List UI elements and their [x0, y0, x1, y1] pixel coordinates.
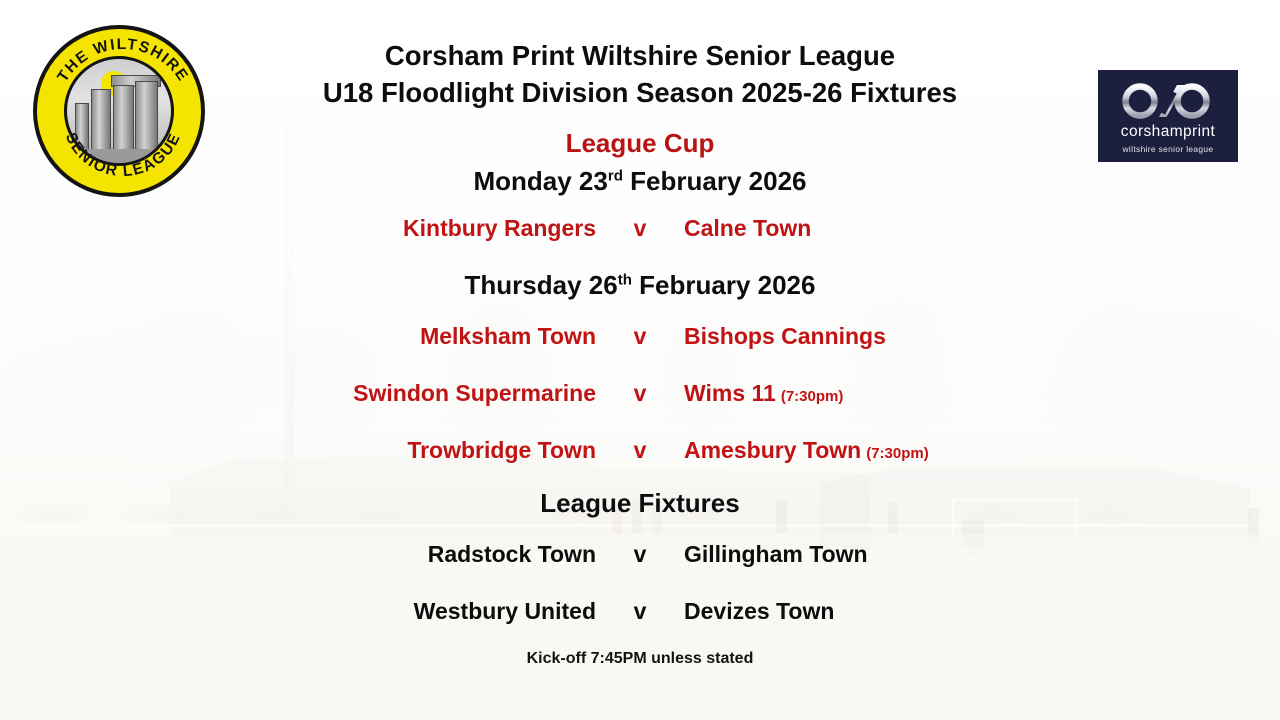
- section-monday-23-february: Monday 23rd February 2026 Kintbury Range…: [230, 166, 1050, 242]
- title-line-2: U18 Floodlight Division Season 2025-26 F…: [230, 75, 1050, 112]
- away-team-label: Gillingham Town: [670, 541, 1050, 568]
- competition-title: League Cup: [230, 128, 1050, 159]
- away-team-label: Wims 11(7:30pm): [670, 380, 1050, 407]
- versus-label: v: [610, 598, 670, 625]
- kickoff-time-label: (7:30pm): [866, 445, 929, 462]
- poster-content: THE WILTSHIRE SENIOR LEAGUE: [0, 0, 1280, 720]
- date-heading-ordinal: 6: [603, 270, 617, 300]
- home-team-label: Radstock Town: [230, 541, 610, 568]
- title-line-1: Corsham Print Wiltshire Senior League: [230, 38, 1050, 75]
- stone-icon: [113, 85, 134, 151]
- away-team-name: Calne Town: [684, 215, 811, 241]
- page-title: Corsham Print Wiltshire Senior League U1…: [230, 38, 1050, 112]
- fixtures-poster: THE WILTSHIRE SENIOR LEAGUE: [0, 0, 1280, 720]
- stone-icon: [135, 81, 158, 151]
- versus-label: v: [610, 215, 670, 242]
- corsham-print-logo: corshamprint wiltshire senior league: [1098, 70, 1238, 162]
- away-team-name: Wims 11: [684, 380, 776, 406]
- away-team-label: Bishops Cannings: [670, 323, 1050, 350]
- fixture-row: Swindon Supermarine v Wims 11(7:30pm): [230, 380, 1050, 407]
- home-team-label: Swindon Supermarine: [230, 380, 610, 407]
- date-heading: Monday 23rd February 2026: [230, 166, 1050, 197]
- fixture-row: Trowbridge Town v Amesbury Town(7:30pm): [230, 437, 1050, 464]
- away-team-name: Amesbury Town: [684, 437, 861, 463]
- corshamprint-mark-icon: [1113, 82, 1223, 120]
- stone-icon: [75, 103, 89, 151]
- wiltshire-senior-league-logo: THE WILTSHIRE SENIOR LEAGUE: [33, 25, 205, 197]
- kickoff-time-label: (7:30pm): [781, 388, 844, 405]
- versus-label: v: [610, 437, 670, 464]
- date-heading-day: Monday 2: [473, 166, 593, 196]
- fixture-row: Radstock Town v Gillingham Town: [230, 541, 1050, 568]
- home-team-label: Melksham Town: [230, 323, 610, 350]
- sponsor-tagline-label: wiltshire senior league: [1123, 144, 1214, 154]
- ground-line: [67, 149, 171, 163]
- date-heading-suffix: rd: [608, 167, 623, 184]
- section-thursday-26-february: Thursday 26th February 2026 Melksham Tow…: [230, 270, 1050, 464]
- away-team-name: Bishops Cannings: [684, 323, 886, 349]
- date-heading-ordinal: 3: [593, 166, 607, 196]
- fixture-row: Westbury United v Devizes Town: [230, 598, 1050, 625]
- away-team-name: Devizes Town: [684, 598, 834, 624]
- date-heading-rest: February 2026: [632, 270, 816, 300]
- away-team-label: Amesbury Town(7:30pm): [670, 437, 1050, 464]
- home-team-label: Kintbury Rangers: [230, 215, 610, 242]
- home-team-label: Trowbridge Town: [230, 437, 610, 464]
- section-heading: League Fixtures: [230, 488, 1050, 519]
- home-team-label: Westbury United: [230, 598, 610, 625]
- date-heading-day: Thursday 2: [465, 270, 604, 300]
- versus-label: v: [610, 541, 670, 568]
- date-heading: Thursday 26th February 2026: [230, 270, 1050, 301]
- sponsor-name-label: corshamprint: [1121, 123, 1215, 141]
- away-team-label: Devizes Town: [670, 598, 1050, 625]
- kickoff-note: Kick-off 7:45PM unless stated: [230, 650, 1050, 668]
- date-heading-rest: February 2026: [623, 166, 807, 196]
- versus-label: v: [610, 323, 670, 350]
- section-league-fixtures: League Fixtures Radstock Town v Gillingh…: [230, 488, 1050, 625]
- fixture-row: Kintbury Rangers v Calne Town: [230, 215, 1050, 242]
- stonehenge-icon: [64, 56, 174, 166]
- date-heading-suffix: th: [618, 271, 632, 288]
- versus-label: v: [610, 380, 670, 407]
- stone-icon: [91, 89, 111, 151]
- away-team-label: Calne Town: [670, 215, 1050, 242]
- fixture-row: Melksham Town v Bishops Cannings: [230, 323, 1050, 350]
- away-team-name: Gillingham Town: [684, 541, 868, 567]
